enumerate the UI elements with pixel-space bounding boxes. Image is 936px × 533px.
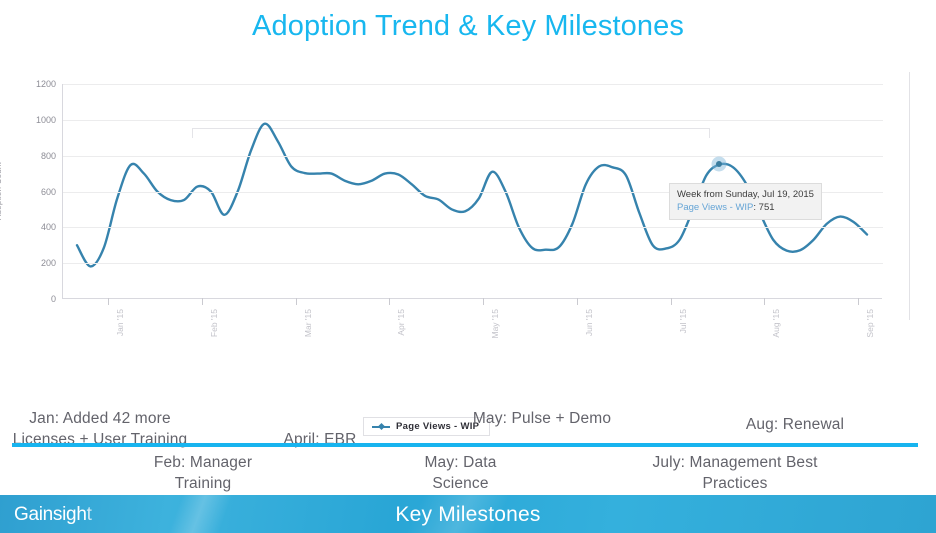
x-axis-tick: Jun '15 xyxy=(584,309,594,336)
milestone-may-data: May: DataScience xyxy=(373,452,548,494)
gridline xyxy=(63,84,883,85)
footer-bar: Gainsight Key Milestones xyxy=(0,495,936,533)
x-axis-tickmark xyxy=(483,298,484,305)
tooltip-value: 751 xyxy=(759,202,775,213)
panel-divider xyxy=(909,72,910,320)
x-axis-tickmark xyxy=(858,298,859,305)
x-axis-tickmark xyxy=(577,298,578,305)
milestone-july: July: Management BestPractices xyxy=(620,452,850,494)
x-axis-tick: May '15 xyxy=(490,309,500,339)
y-axis-tick: 400 xyxy=(41,222,56,232)
hover-marker-dot[interactable] xyxy=(716,161,722,167)
y-axis-tick: 1000 xyxy=(36,115,56,125)
x-axis-tick: Apr '15 xyxy=(396,309,406,336)
x-axis-tick: Mar '15 xyxy=(303,309,313,337)
gridline xyxy=(63,120,883,121)
milestone-may-pulse: May: Pulse + Demo xyxy=(447,408,637,429)
tooltip-date: Week from Sunday, Jul 19, 2015 xyxy=(677,188,814,201)
x-axis-tick: Feb '15 xyxy=(209,309,219,337)
x-axis-tickmark xyxy=(389,298,390,305)
gridline xyxy=(63,227,883,228)
y-axis-tick: 0 xyxy=(51,294,56,304)
milestones-divider-rule xyxy=(12,443,918,447)
gridline xyxy=(63,156,883,157)
x-axis-tick: Sep '15 xyxy=(865,309,875,338)
x-axis-tickmark xyxy=(764,298,765,305)
milestones-section: Jan: Added 42 moreLicenses + User Traini… xyxy=(0,398,936,498)
y-axis-tick: 600 xyxy=(41,187,56,197)
x-axis-tickmark xyxy=(202,298,203,305)
x-axis-tickmark xyxy=(671,298,672,305)
x-axis-tick: Jul '15 xyxy=(678,309,688,333)
y-axis-title: Adoption Count xyxy=(0,162,3,220)
x-axis-tickmark xyxy=(108,298,109,305)
y-axis-tick: 1200 xyxy=(36,79,56,89)
milestone-aug: Aug: Renewal xyxy=(700,414,890,435)
slide-root: Adoption Trend & Key Milestones Adoption… xyxy=(0,0,936,533)
tooltip-series-name: Page Views - WIP xyxy=(677,202,753,213)
gridline xyxy=(63,263,883,264)
footer-title: Key Milestones xyxy=(0,503,936,527)
milestone-feb: Feb: ManagerTraining xyxy=(113,452,293,494)
x-axis-tick: Jan '15 xyxy=(115,309,125,336)
x-axis-tickmark xyxy=(296,298,297,305)
chart-tooltip: Week from Sunday, Jul 19, 2015 Page View… xyxy=(669,183,822,220)
adoption-trend-chart[interactable]: Adoption Count 020040060080010001200Jan … xyxy=(0,60,915,390)
y-axis-tick: 200 xyxy=(41,258,56,268)
y-axis-tick: 800 xyxy=(41,151,56,161)
x-axis-tick: Aug '15 xyxy=(771,309,781,338)
page-title: Adoption Trend & Key Milestones xyxy=(0,6,936,46)
tooltip-value-row: Page Views - WIP: 751 xyxy=(677,201,814,214)
